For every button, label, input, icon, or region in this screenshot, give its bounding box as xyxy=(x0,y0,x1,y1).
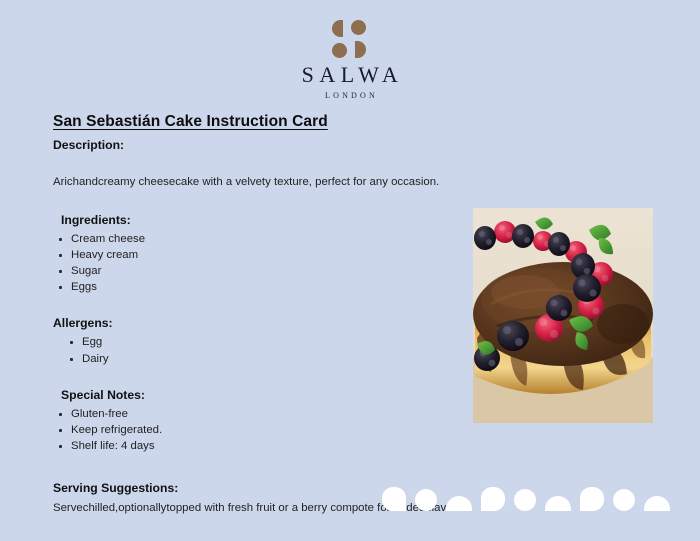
ornament-dome-icon xyxy=(545,496,571,511)
salwa-monogram-icon xyxy=(332,20,368,58)
ornament-scallop-icon xyxy=(514,489,536,511)
description-text: Arichandcreamy cheesecake with a velvety… xyxy=(53,174,653,191)
instruction-card-page: SALWA LONDON San Sebastián Cake Instruct… xyxy=(0,0,700,541)
san-sebastian-cheesecake-photo xyxy=(473,208,653,423)
monogram-top-right-dot xyxy=(351,20,366,35)
page-title: San Sebastián Cake Instruction Card xyxy=(53,112,653,131)
ornament-leaf-icon xyxy=(382,487,406,511)
brand-name: SALWA xyxy=(0,64,700,86)
monogram-bottom-right-halfdisc xyxy=(355,41,366,58)
monogram-bottom-left-dot xyxy=(332,43,347,58)
ornament-dome-icon xyxy=(446,496,472,511)
list-item: Shelf life: 4 days xyxy=(53,438,653,454)
ornament-leaf-icon xyxy=(481,487,505,511)
cheesecake-illustration xyxy=(473,208,653,423)
ornament-dome-icon xyxy=(644,496,670,511)
decorative-shape-row xyxy=(382,483,682,511)
brand-tagline: LONDON xyxy=(0,91,700,100)
brand-header: SALWA LONDON xyxy=(0,20,700,100)
description-label: Description: xyxy=(53,137,653,154)
ornament-scallop-icon xyxy=(415,489,437,511)
ornament-scallop-icon xyxy=(613,489,635,511)
list-item: Keep refrigerated. xyxy=(53,422,653,438)
ornament-leaf-icon xyxy=(580,487,604,511)
monogram-top-left-halfdisc xyxy=(332,20,343,37)
